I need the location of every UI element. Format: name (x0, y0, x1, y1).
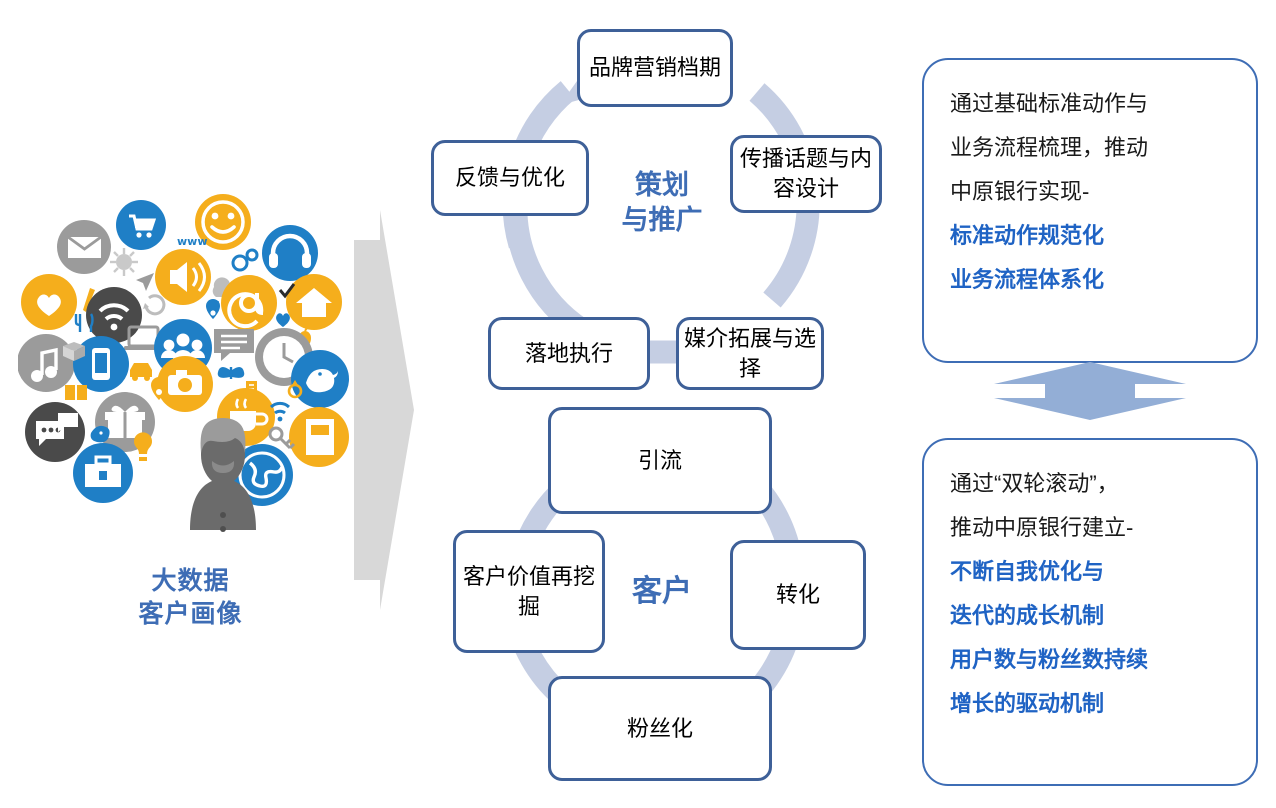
headphones-icon (262, 225, 318, 281)
wifi-dark-icon (86, 287, 142, 343)
node-label: 媒介拓展与选择 (683, 324, 817, 384)
node-customer-value-remining[interactable]: 客户价值再挖掘 (453, 530, 605, 653)
panel-line: 通过“双轮滚动”， (950, 462, 1230, 506)
slide-canvas: www (0, 0, 1276, 808)
double-chevron-down-arrow (990, 360, 1190, 422)
panel-line: 通过基础标准动作与 (950, 82, 1230, 126)
briefcase-icon (73, 443, 133, 503)
cycle-diagram: 品牌营销档期 传播话题与内容设计 媒介拓展与选择 落地执行 反馈与优化 策划 与… (400, 0, 920, 808)
node-label: 传播话题与内容设计 (737, 144, 875, 204)
node-brand-campaign-window[interactable]: 品牌营销档期 (577, 29, 733, 107)
house-icon (286, 274, 342, 330)
gears-icon (233, 250, 257, 270)
smartphone-icon (73, 336, 129, 392)
node-label: 品牌营销档期 (589, 53, 721, 83)
node-label: 粉丝化 (627, 714, 693, 744)
big-data-label: 大数据 客户画像 (18, 565, 363, 631)
node-label: 客户价值再挖掘 (460, 562, 598, 622)
cart-icon (116, 200, 166, 250)
node-label: 引流 (638, 446, 682, 476)
www-text-icon: www (177, 235, 208, 248)
panel-line-highlight: 用户数与粉丝数持续 (950, 638, 1230, 682)
node-label: 转化 (776, 580, 820, 610)
heart-small-icon (276, 313, 290, 327)
upper-ring-center-label: 策划 与推广 (603, 168, 721, 238)
big-data-icon-cluster: www (18, 185, 363, 535)
node-media-expansion[interactable]: 媒介拓展与选择 (676, 317, 824, 390)
standardization-panel: 通过基础标准动作与 业务流程梳理，推动 中原银行实现- 标准动作规范化 业务流程… (922, 58, 1258, 363)
big-data-label-line1: 大数据 (18, 565, 363, 598)
node-conversion[interactable]: 转化 (730, 540, 866, 650)
node-label: 落地执行 (525, 339, 613, 369)
butterfly-icon (218, 367, 245, 379)
bird-icon (291, 350, 349, 408)
music-note-icon (18, 334, 75, 392)
sun-icon (110, 248, 138, 276)
panel-line-highlight: 不断自我优化与 (950, 550, 1230, 594)
panel-line-highlight: 增长的驱动机制 (950, 682, 1230, 726)
upper-ring-center-label-line2: 与推广 (603, 203, 721, 238)
node-traffic[interactable]: 引流 (548, 407, 772, 514)
chat-dots-icon (25, 402, 85, 462)
heart-icon (21, 274, 77, 330)
car-icon (130, 363, 152, 381)
lower-ring-center-label: 客户 (603, 574, 721, 609)
panel-line: 业务流程梳理，推动 (950, 126, 1230, 170)
node-label: 反馈与优化 (455, 163, 565, 193)
upper-ring-center-label-line1: 策划 (603, 168, 721, 203)
node-feedback-optimization[interactable]: 反馈与优化 (431, 140, 589, 216)
panel-line: 中原银行实现- (950, 170, 1230, 214)
bird-small-icon (91, 426, 110, 443)
big-data-label-line2: 客户画像 (18, 598, 363, 631)
panel-line: 推动中原银行建立- (950, 506, 1230, 550)
chat-bubble-icon (214, 329, 254, 361)
pin-icon (206, 299, 220, 319)
panel-line-highlight: 业务流程体系化 (950, 258, 1230, 302)
panel-line-highlight: 迭代的成长机制 (950, 594, 1230, 638)
notebook-icon (289, 407, 349, 467)
lightbulb-icon (134, 432, 152, 461)
dual-wheel-panel: 通过“双轮滚动”， 推动中原银行建立- 不断自我优化与 迭代的成长机制 用户数与… (922, 438, 1258, 786)
node-fan-conversion[interactable]: 粉丝化 (548, 676, 772, 781)
node-execution[interactable]: 落地执行 (488, 317, 650, 390)
node-content-topic-design[interactable]: 传播话题与内容设计 (730, 135, 882, 213)
panel-line-highlight: 标准动作规范化 (950, 214, 1230, 258)
refresh-icon (143, 296, 164, 314)
envelope-icon (57, 220, 111, 274)
send-icon (136, 273, 154, 291)
speaker-icon (155, 249, 211, 305)
at-icon (221, 275, 277, 331)
book-open-icon (65, 384, 87, 401)
